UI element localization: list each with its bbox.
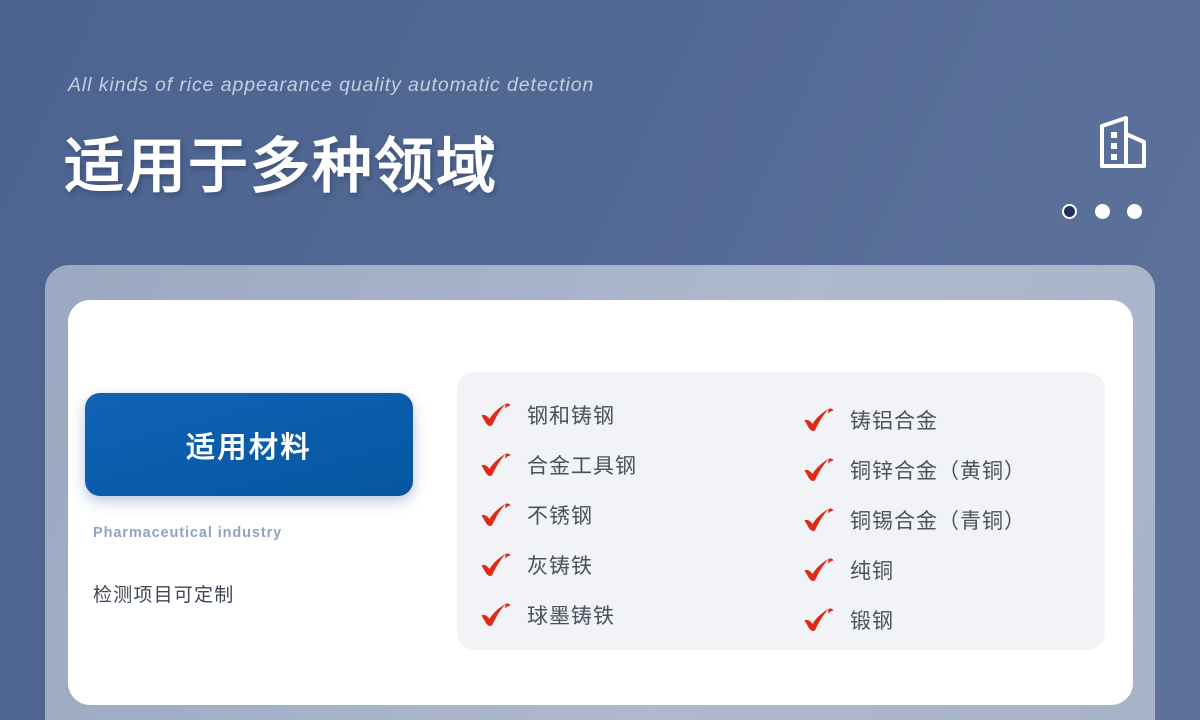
red-checkmark-icon bbox=[802, 557, 836, 583]
red-checkmark-icon bbox=[479, 402, 513, 428]
list-item: 铜锌合金（黄铜） bbox=[802, 445, 1102, 495]
slide-subtitle: All kinds of rice appearance quality aut… bbox=[68, 74, 594, 97]
slide-root: All kinds of rice appearance quality aut… bbox=[0, 0, 1200, 720]
industry-label: Pharmaceutical industry bbox=[93, 525, 282, 541]
red-checkmark-icon bbox=[802, 607, 836, 633]
red-checkmark-icon bbox=[802, 507, 836, 533]
pagination-dot-2[interactable] bbox=[1095, 204, 1110, 219]
page-title: 适用于多种领域 bbox=[64, 118, 498, 205]
pagination-dots[interactable] bbox=[1062, 204, 1154, 220]
red-checkmark-icon bbox=[479, 502, 513, 528]
material-name: 铸铝合金 bbox=[850, 405, 938, 435]
material-name: 合金工具钢 bbox=[527, 450, 637, 480]
material-name: 钢和铸钢 bbox=[527, 400, 615, 430]
list-item: 铜锡合金（青铜） bbox=[802, 495, 1102, 545]
materials-column-right: 铸铝合金 铜锌合金（黄铜） 铜锡合金（青铜） 纯铜 bbox=[802, 372, 1102, 645]
list-item: 铸铝合金 bbox=[802, 395, 1102, 445]
applicable-materials-button[interactable]: 适用材料 bbox=[85, 393, 413, 496]
list-item: 灰铸铁 bbox=[479, 540, 799, 590]
list-item: 纯铜 bbox=[802, 545, 1102, 595]
pagination-dot-1[interactable] bbox=[1062, 204, 1077, 219]
materials-panel: 钢和铸钢 合金工具钢 不锈钢 灰铸铁 bbox=[457, 372, 1105, 650]
customizable-note: 检测项目可定制 bbox=[93, 580, 234, 607]
pagination-dot-3[interactable] bbox=[1127, 204, 1142, 219]
material-name: 不锈钢 bbox=[527, 500, 593, 530]
list-item: 不锈钢 bbox=[479, 490, 799, 540]
material-name: 铜锡合金（青铜） bbox=[850, 505, 1026, 535]
list-item: 合金工具钢 bbox=[479, 440, 799, 490]
red-checkmark-icon bbox=[802, 407, 836, 433]
list-item: 钢和铸钢 bbox=[479, 390, 799, 440]
red-checkmark-icon bbox=[802, 457, 836, 483]
material-name: 锻钢 bbox=[850, 605, 894, 635]
material-name: 灰铸铁 bbox=[527, 550, 593, 580]
red-checkmark-icon bbox=[479, 552, 513, 578]
material-name: 铜锌合金（黄铜） bbox=[850, 455, 1026, 485]
list-item: 锻钢 bbox=[802, 595, 1102, 645]
material-name: 球墨铸铁 bbox=[527, 600, 615, 630]
list-item: 球墨铸铁 bbox=[479, 590, 799, 640]
red-checkmark-icon bbox=[479, 452, 513, 478]
building-icon bbox=[1092, 112, 1154, 174]
material-name: 纯铜 bbox=[850, 555, 894, 585]
red-checkmark-icon bbox=[479, 602, 513, 628]
materials-column-left: 钢和铸钢 合金工具钢 不锈钢 灰铸铁 bbox=[479, 372, 799, 640]
